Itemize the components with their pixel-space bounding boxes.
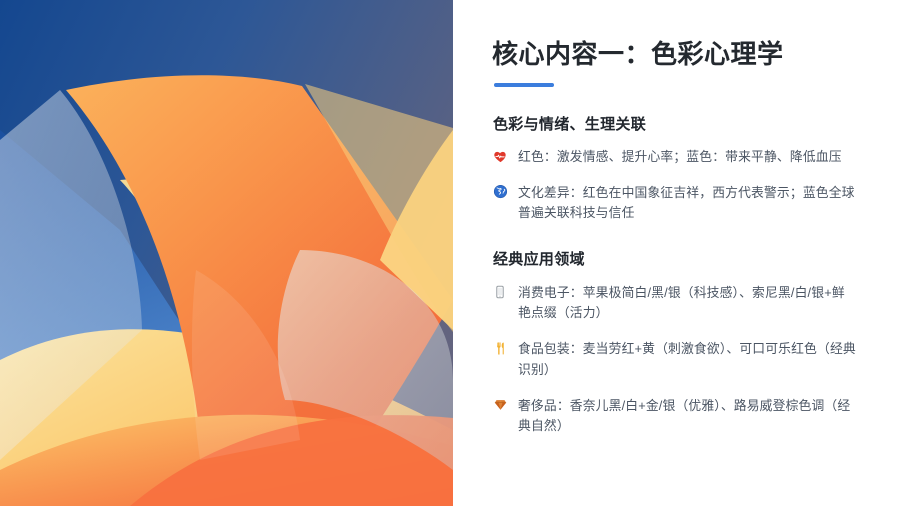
list-item-text: 食品包装：麦当劳红+黄（刺激食欲）、可口可乐红色（经典识别）: [518, 339, 856, 380]
section-classic-applications: 经典应用领域 消费电子：苹果极简白/黑/银（科技感）、索尼黑/白/银+鲜艳点缀（…: [492, 250, 856, 437]
list-item: 消费电子：苹果极简白/黑/银（科技感）、索尼黑/白/银+鲜艳点缀（活力）: [492, 283, 856, 324]
fork-and-knife-icon: [492, 340, 508, 356]
slide-root: 核心内容一：色彩心理学 色彩与情绪、生理关联 红色：激发情感、提升心率；蓝色：带…: [0, 0, 900, 506]
title-accent-rule: [494, 83, 554, 87]
page-title: 核心内容一：色彩心理学: [492, 38, 856, 71]
section-color-emotion: 色彩与情绪、生理关联 红色：激发情感、提升心率；蓝色：带来平静、降低血压: [492, 115, 856, 225]
list-item-text: 文化差异：红色在中国象征吉祥，西方代表警示；蓝色全球普遍关联科技与信任: [518, 183, 856, 224]
list-item-text: 红色：激发情感、提升心率；蓝色：带来平静、降低血压: [518, 147, 842, 168]
heart-pulse-icon: [492, 148, 508, 164]
bullet-list: 消费电子：苹果极简白/黑/银（科技感）、索尼黑/白/银+鲜艳点缀（活力） 食品包…: [492, 283, 856, 437]
list-item: 红色：激发情感、提升心率；蓝色：带来平静、降低血压: [492, 147, 856, 168]
section-heading: 色彩与情绪、生理关联: [493, 115, 856, 135]
globe-icon: [492, 184, 508, 200]
section-heading: 经典应用领域: [493, 250, 856, 270]
abstract-gradient-artwork: [0, 0, 453, 506]
bullet-list: 红色：激发情感、提升心率；蓝色：带来平静、降低血压 文化差异：红色在中国象征吉祥…: [492, 147, 856, 224]
list-item: 奢侈品：香奈儿黑/白+金/银（优雅）、路易威登棕色调（经典自然）: [492, 396, 856, 437]
list-item-text: 消费电子：苹果极简白/黑/银（科技感）、索尼黑/白/银+鲜艳点缀（活力）: [518, 283, 856, 324]
mobile-phone-icon: [492, 284, 508, 300]
decorative-artwork-panel: [0, 0, 453, 506]
list-item-text: 奢侈品：香奈儿黑/白+金/银（优雅）、路易威登棕色调（经典自然）: [518, 396, 856, 437]
list-item: 文化差异：红色在中国象征吉祥，西方代表警示；蓝色全球普遍关联科技与信任: [492, 183, 856, 224]
list-item: 食品包装：麦当劳红+黄（刺激食欲）、可口可乐红色（经典识别）: [492, 339, 856, 380]
gem-icon: [492, 397, 508, 413]
content-panel: 核心内容一：色彩心理学 色彩与情绪、生理关联 红色：激发情感、提升心率；蓝色：带…: [453, 0, 900, 506]
